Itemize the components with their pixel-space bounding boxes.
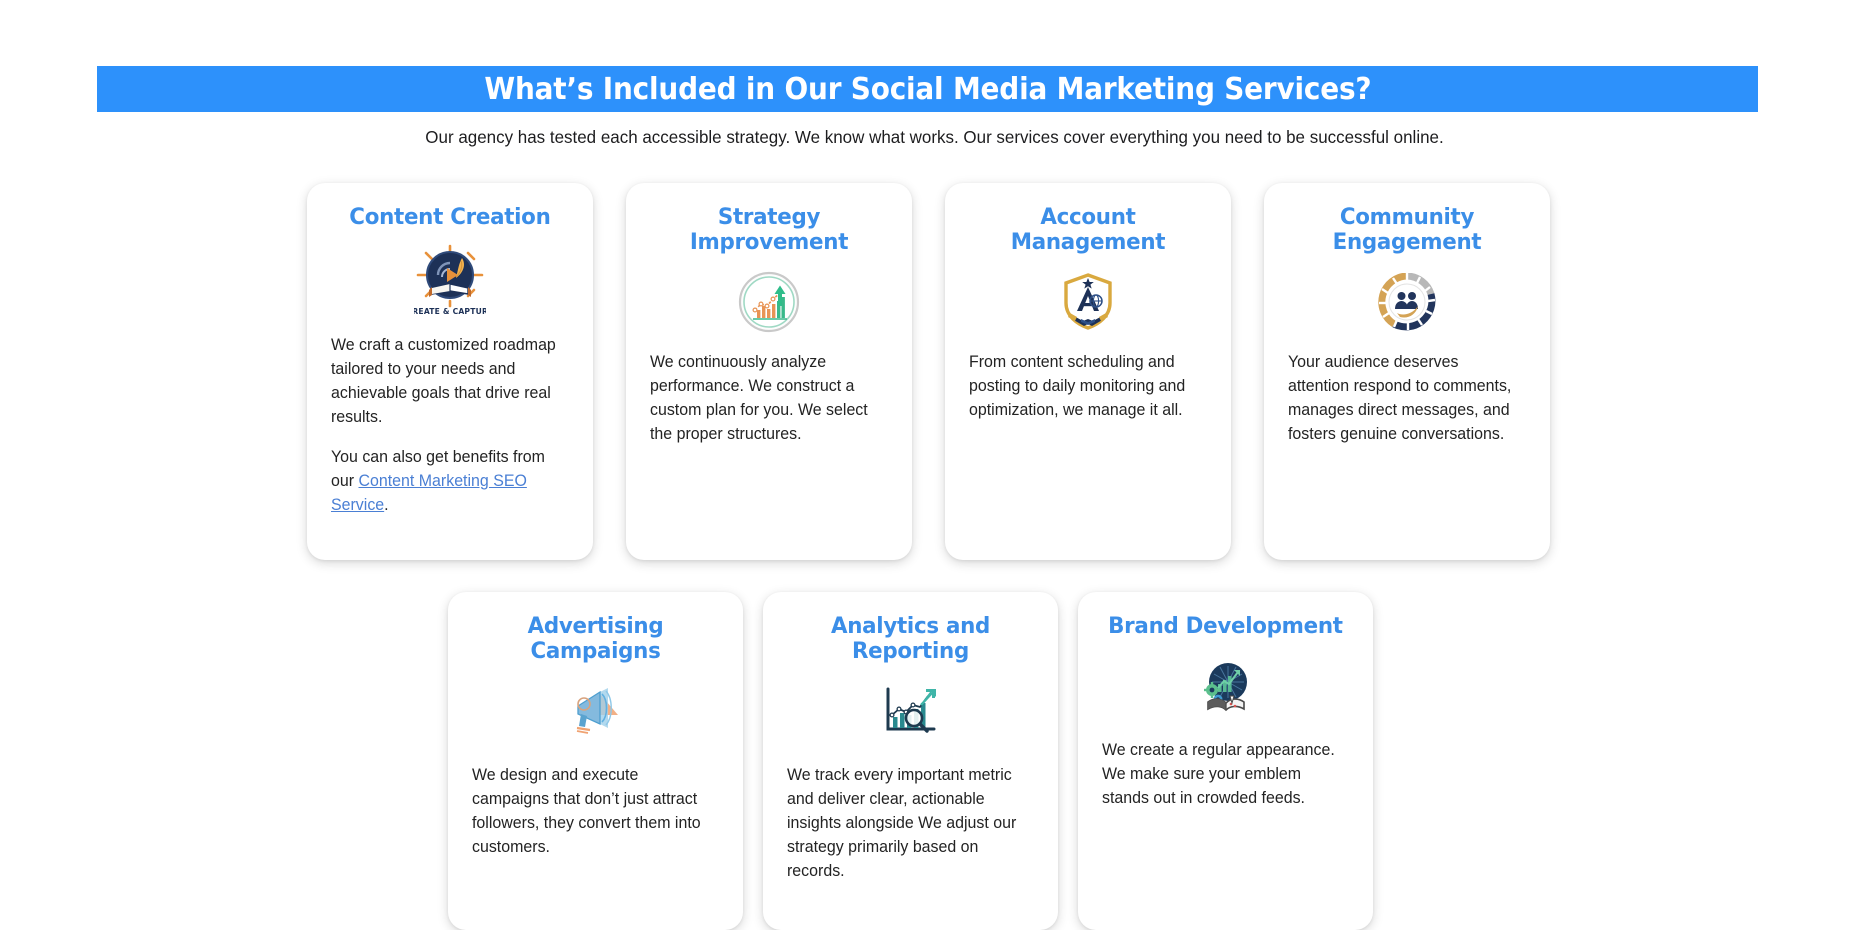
card-title: Analytics and Reporting	[793, 614, 1028, 664]
card-title: Content Creation	[349, 205, 550, 230]
shield-handshake-icon	[1059, 269, 1117, 335]
card-body: We continuously analyze performance. We …	[650, 351, 884, 447]
page-subtitle: Our agency has tested each accessible st…	[28, 127, 1841, 148]
card-title: Strategy Improvement	[656, 205, 882, 255]
gear-people-icon	[1378, 269, 1436, 335]
card-paragraph: We craft a customized roadmap tailored t…	[331, 334, 565, 430]
chart-magnifier-icon	[883, 678, 939, 744]
card-paragraph: Your audience deserves attention respond…	[1288, 351, 1522, 447]
card-link-paragraph: You can also get benefits from our Conte…	[331, 446, 565, 518]
card-title: Brand Development	[1108, 614, 1343, 639]
icon-caption: CREATE & CAPTURE	[414, 307, 486, 316]
page-root: What’s Included in Our Social Media Mark…	[0, 0, 1869, 930]
service-card-account-management[interactable]: Account Management	[945, 183, 1231, 560]
service-card-row-1: Content Creation	[307, 183, 1550, 560]
card-body: We craft a customized roadmap tailored t…	[331, 334, 565, 518]
megaphone-icon	[566, 678, 626, 744]
card-paragraph: From content scheduling and posting to d…	[969, 351, 1203, 423]
content-marketing-seo-service-link[interactable]: Content Marketing SEO Service	[331, 472, 527, 514]
card-body: We design and execute campaigns that don…	[472, 764, 715, 860]
header-banner: What’s Included in Our Social Media Mark…	[97, 66, 1758, 112]
card-paragraph: We continuously analyze performance. We …	[650, 351, 884, 447]
brand-book-gears-icon	[1198, 653, 1254, 719]
service-card-content-creation[interactable]: Content Creation	[307, 183, 593, 560]
card-body: We track every important metric and deli…	[787, 764, 1030, 884]
page-title: What’s Included in Our Social Media Mark…	[484, 72, 1371, 107]
service-card-analytics-and-reporting[interactable]: Analytics and Reporting	[763, 592, 1058, 930]
service-card-community-engagement[interactable]: Community Engagement	[1264, 183, 1550, 560]
create-and-capture-badge-icon: CREATE & CAPTURE	[414, 244, 486, 318]
service-card-strategy-improvement[interactable]: Strategy Improvement	[626, 183, 912, 560]
card-title: Advertising Campaigns	[478, 614, 713, 664]
link-suffix-text: .	[384, 496, 388, 514]
service-card-brand-development[interactable]: Brand Development	[1078, 592, 1373, 930]
growth-chart-circle-icon	[737, 269, 801, 335]
card-title: Community Engagement	[1294, 205, 1520, 255]
card-paragraph: We design and execute campaigns that don…	[472, 764, 715, 860]
card-body: We create a regular appearance. We make …	[1102, 739, 1345, 811]
service-card-row-2: Advertising Campaigns	[448, 592, 1373, 930]
card-paragraph: We track every important metric and deli…	[787, 764, 1030, 884]
service-card-advertising-campaigns[interactable]: Advertising Campaigns	[448, 592, 743, 930]
card-paragraph: We create a regular appearance. We make …	[1102, 739, 1345, 811]
card-body: From content scheduling and posting to d…	[969, 351, 1203, 423]
card-body: Your audience deserves attention respond…	[1288, 351, 1522, 447]
card-title: Account Management	[975, 205, 1201, 255]
